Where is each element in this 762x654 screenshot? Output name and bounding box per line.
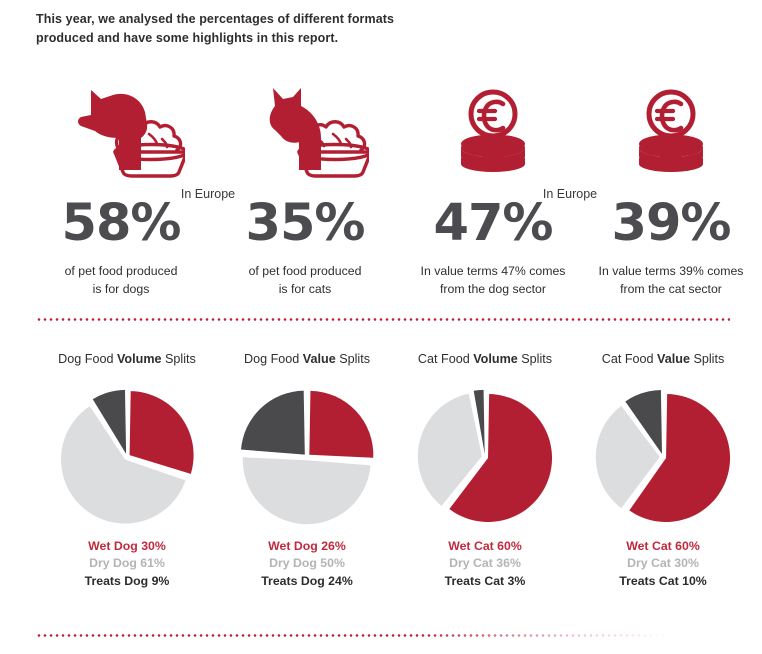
- stat-card-cat-volume: 35% of pet food produced is for cats: [210, 72, 400, 299]
- pie-chart-svg: [390, 382, 580, 532]
- legend-wet: Wet Cat 60%: [568, 538, 758, 555]
- pie-chart-svg: [32, 382, 222, 532]
- legend-treats: Treats Cat 3%: [390, 573, 580, 590]
- pie-title-suffix: Splits: [336, 352, 370, 366]
- stat-caption-line-2: is for dogs: [26, 281, 216, 299]
- pie-title: Cat Food Volume Splits: [390, 352, 580, 366]
- pie-title: Dog Food Volume Splits: [32, 352, 222, 366]
- pie-title-prefix: Cat Food: [418, 352, 473, 366]
- legend-wet: Wet Dog 26%: [212, 538, 402, 555]
- stat-card-dog-value: 47% In value terms 47% comes from the do…: [398, 72, 588, 299]
- pie-card-dog-value: Dog Food Value Splits Wet Dog 26% Dry Do…: [212, 352, 402, 590]
- stat-caption-line-2: is for cats: [210, 281, 400, 299]
- pie-chart-svg: [568, 382, 758, 532]
- stat-percent-dog-value: 47%: [398, 198, 588, 249]
- pie-card-dog-volume: Dog Food Volume Splits Wet Dog 30% Dry D…: [32, 352, 222, 590]
- pie-title-suffix: Splits: [690, 352, 724, 366]
- pie-slice: [309, 391, 373, 458]
- pie-chart-band: Dog Food Volume Splits Wet Dog 30% Dry D…: [0, 352, 762, 602]
- stat-caption-line-1: of pet food produced: [26, 263, 216, 281]
- pie-title-emphasis: Volume: [473, 352, 518, 366]
- legend-treats: Treats Cat 10%: [568, 573, 758, 590]
- euro-coins-icon: [576, 72, 762, 178]
- pie-title-suffix: Splits: [518, 352, 552, 366]
- pie-legend: Wet Dog 26% Dry Dog 50% Treats Dog 24%: [212, 538, 402, 590]
- pie-title-prefix: Cat Food: [602, 352, 657, 366]
- stat-caption-line-2: from the dog sector: [398, 281, 588, 299]
- pie-chart-svg: [212, 382, 402, 532]
- pie-slice: [241, 391, 305, 455]
- intro-line-2: produced and have some highlights in thi…: [36, 29, 456, 48]
- pie-slice: [130, 391, 194, 474]
- legend-wet: Wet Cat 60%: [390, 538, 580, 555]
- stat-caption-line-1: In value terms 39% comes: [576, 263, 762, 281]
- stat-percent-cat-volume: 35%: [210, 198, 400, 249]
- pie-legend: Wet Cat 60% Dry Cat 30% Treats Cat 10%: [568, 538, 758, 590]
- pie-title: Dog Food Value Splits: [212, 352, 402, 366]
- intro-paragraph: This year, we analysed the percentages o…: [36, 10, 456, 49]
- pie-title-emphasis: Value: [657, 352, 690, 366]
- legend-wet: Wet Dog 30%: [32, 538, 222, 555]
- legend-dry: Dry Dog 61%: [32, 555, 222, 572]
- pie-title-suffix: Splits: [162, 352, 196, 366]
- pie-slice: [243, 457, 371, 524]
- stat-percent-cat-value: 39%: [576, 198, 762, 249]
- stat-caption-line-1: of pet food produced: [210, 263, 400, 281]
- stat-percent-dog-volume: 58%: [26, 198, 216, 249]
- legend-dry: Dry Cat 30%: [568, 555, 758, 572]
- dog-with-bowl-icon: [26, 72, 216, 178]
- pie-title-emphasis: Value: [303, 352, 336, 366]
- pie-card-cat-value: Cat Food Value Splits Wet Cat 60% Dry Ca…: [568, 352, 758, 590]
- legend-treats: Treats Dog 9%: [32, 573, 222, 590]
- stat-caption-cat-value: In value terms 39% comes from the cat se…: [576, 263, 762, 299]
- stat-card-dog-volume: 58% of pet food produced is for dogs: [26, 72, 216, 299]
- pie-title-prefix: Dog Food: [244, 352, 303, 366]
- pie-title-emphasis: Volume: [117, 352, 162, 366]
- stat-caption-line-1: In value terms 47% comes: [398, 263, 588, 281]
- dotted-divider-bottom: [36, 634, 730, 637]
- legend-dry: Dry Cat 36%: [390, 555, 580, 572]
- stats-band: In Europe In Europe 58% of pet: [0, 72, 762, 302]
- stat-caption-line-2: from the cat sector: [576, 281, 762, 299]
- legend-treats: Treats Dog 24%: [212, 573, 402, 590]
- cat-with-bowl-icon: [210, 72, 400, 178]
- stat-caption-dog-value: In value terms 47% comes from the dog se…: [398, 263, 588, 299]
- stat-card-cat-value: 39% In value terms 39% comes from the ca…: [576, 72, 762, 299]
- legend-dry: Dry Dog 50%: [212, 555, 402, 572]
- stat-caption-cat-volume: of pet food produced is for cats: [210, 263, 400, 299]
- pie-card-cat-volume: Cat Food Volume Splits Wet Cat 60% Dry C…: [390, 352, 580, 590]
- euro-coins-icon: [398, 72, 588, 178]
- pie-title: Cat Food Value Splits: [568, 352, 758, 366]
- dotted-divider-top: [36, 318, 730, 321]
- stat-caption-dog-volume: of pet food produced is for dogs: [26, 263, 216, 299]
- pie-legend: Wet Cat 60% Dry Cat 36% Treats Cat 3%: [390, 538, 580, 590]
- intro-line-1: This year, we analysed the percentages o…: [36, 10, 456, 29]
- pie-title-prefix: Dog Food: [58, 352, 117, 366]
- pie-legend: Wet Dog 30% Dry Dog 61% Treats Dog 9%: [32, 538, 222, 590]
